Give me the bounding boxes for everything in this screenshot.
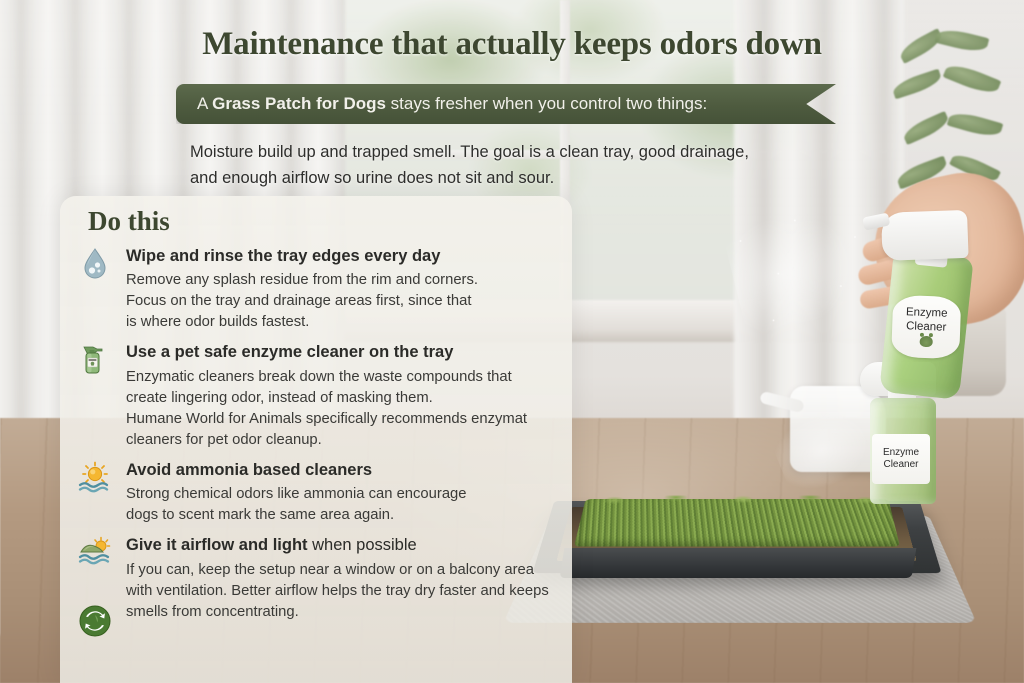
list-item-description: Strong chemical odors like ammonia can e… [126, 484, 638, 526]
intro-line-1: Moisture build up and trapped smell. The… [190, 140, 830, 166]
desc-line: smells from concentrating. [126, 602, 638, 623]
sunset-hill-waves-icon [78, 535, 112, 569]
list-item-body: Avoid ammonia based cleaners Strong chem… [78, 460, 638, 526]
list-item-description: Remove any splash residue from the rim a… [126, 270, 638, 333]
list-item: Avoid ammonia based cleaners Strong chem… [78, 460, 638, 526]
list-item-title: Give it airflow and light when possible [126, 535, 638, 556]
list-item-body: Give it airflow and light when possible … [78, 535, 638, 622]
list-item-title-bold: Give it airflow and light [126, 536, 308, 554]
list-item-body: Wipe and rinse the tray edges every day … [78, 246, 638, 333]
subtitle-banner-text: A Grass Patch for Dogs stays fresher whe… [176, 94, 707, 114]
content-overlay: Maintenance that actually keeps odors do… [0, 0, 1024, 683]
desc-line: Strong chemical odors like ammonia can e… [126, 484, 638, 505]
desc-line: If you can, keep the setup near a window… [126, 560, 638, 581]
desc-line: create lingering odor, instead of maskin… [126, 388, 638, 409]
desc-line: cleaners for pet odor cleanup. [126, 430, 638, 451]
card-heading: Do this [88, 206, 170, 237]
list-item: Use a pet safe enzyme cleaner on the tra… [78, 342, 638, 450]
desc-line: Humane World for Animals specifically re… [126, 409, 638, 430]
banner-strong: Grass Patch for Dogs [212, 94, 386, 113]
desc-line: is where odor builds fastest. [126, 312, 638, 333]
list-item-body: Use a pet safe enzyme cleaner on the tra… [78, 342, 638, 450]
list-item-description: Enzymatic cleaners break down the waste … [126, 367, 638, 451]
list-item: Wipe and rinse the tray edges every day … [78, 246, 638, 333]
intro-line-2: and enough airflow so urine does not sit… [190, 166, 830, 192]
tips-list: Wipe and rinse the tray edges every day … [78, 246, 638, 632]
intro-paragraph: Moisture build up and trapped smell. The… [190, 140, 830, 191]
list-item-title-regular: when possible [308, 536, 417, 554]
spray-bottle-icon [78, 342, 112, 376]
list-item-title-bold: Avoid ammonia based cleaners [126, 461, 372, 479]
desc-line: Remove any splash residue from the rim a… [126, 270, 638, 291]
water-drop-icon [78, 246, 112, 280]
list-item-title: Avoid ammonia based cleaners [126, 460, 638, 481]
list-item-title: Use a pet safe enzyme cleaner on the tra… [126, 342, 638, 363]
recycle-arrows-icon [78, 604, 112, 638]
sun-waves-icon [78, 460, 112, 494]
list-item-description: If you can, keep the setup near a window… [126, 560, 638, 623]
subtitle-banner: A Grass Patch for Dogs stays fresher whe… [176, 84, 836, 124]
list-item-title-bold: Use a pet safe enzyme cleaner on the tra… [126, 343, 453, 361]
desc-line: Focus on the tray and drainage areas fir… [126, 291, 638, 312]
desc-line: with ventilation. Better airflow helps t… [126, 581, 638, 602]
desc-line: dogs to scent mark the same area again. [126, 505, 638, 526]
page-title: Maintenance that actually keeps odors do… [0, 26, 1024, 63]
list-item-title: Wipe and rinse the tray edges every day [126, 246, 638, 267]
list-item-title-bold: Wipe and rinse the tray edges every day [126, 247, 440, 265]
banner-rest: stays fresher when you control two thing… [386, 94, 707, 113]
list-item: Give it airflow and light when possible … [78, 535, 638, 622]
banner-lead: A [197, 94, 212, 113]
desc-line: Enzymatic cleaners break down the waste … [126, 367, 638, 388]
